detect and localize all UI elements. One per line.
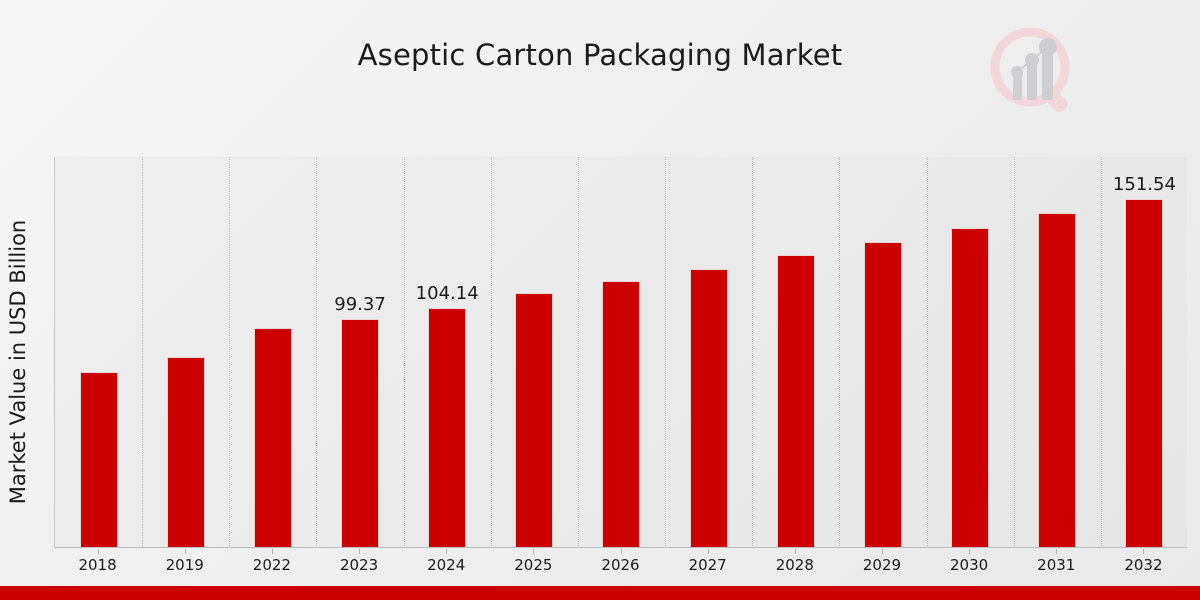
x-axis-tick-label-2026: 2026 (601, 556, 639, 574)
bar-group[interactable] (229, 157, 316, 548)
bar-group[interactable] (839, 157, 926, 548)
x-axis-tick (882, 549, 883, 554)
bar-2023[interactable] (341, 319, 379, 548)
x-axis-tick-label-2022: 2022 (253, 556, 291, 574)
x-axis-tick-label-2029: 2029 (863, 556, 901, 574)
bar-value-label: 104.14 (416, 283, 479, 304)
x-axis-tick (359, 549, 360, 554)
bar-value-label: 99.37 (334, 294, 386, 315)
bar-group[interactable]: 99.37 (316, 157, 403, 548)
x-axis-tick (621, 549, 622, 554)
x-axis-tick (533, 549, 534, 554)
bar-group[interactable]: 104.14 (404, 157, 491, 548)
bar-2030[interactable] (951, 228, 989, 548)
bar-group[interactable]: 151.54 (1101, 157, 1188, 548)
plot-area: 99.37104.14151.54 (54, 157, 1187, 548)
bar-value-label: 151.54 (1113, 174, 1176, 195)
x-axis-tick-label-2027: 2027 (689, 556, 727, 574)
x-axis-baseline (55, 547, 1187, 548)
x-axis-tick-label-2028: 2028 (776, 556, 814, 574)
x-axis-tick (446, 549, 447, 554)
bar-group[interactable] (142, 157, 229, 548)
x-axis-tick-label-2023: 2023 (340, 556, 378, 574)
footer-accent-bar (0, 586, 1200, 600)
x-axis-tick (1143, 549, 1144, 554)
x-axis-tick-label-2031: 2031 (1037, 556, 1075, 574)
bar-2032[interactable] (1125, 199, 1163, 548)
x-axis-tick-label-2025: 2025 (514, 556, 552, 574)
bar-group[interactable] (578, 157, 665, 548)
bar-group[interactable] (491, 157, 578, 548)
bar-2026[interactable] (602, 281, 640, 548)
bar-group[interactable] (752, 157, 839, 548)
x-axis-tick-label-2032: 2032 (1124, 556, 1162, 574)
bar-group[interactable] (1014, 157, 1101, 548)
bar-chart-icon (1011, 38, 1057, 100)
y-axis-label: Market Value in USD Billion (6, 152, 30, 572)
x-axis-tick (1056, 549, 1057, 554)
watermark-logo (983, 22, 1087, 126)
x-axis-tick (969, 549, 970, 554)
x-axis: 2018201920222023202420252026202720282029… (54, 549, 1187, 579)
bar-group[interactable] (927, 157, 1014, 548)
bar-group[interactable] (665, 157, 752, 548)
x-axis-tick-label-2024: 2024 (427, 556, 465, 574)
bar-series: 99.37104.14151.54 (55, 157, 1187, 548)
bar-2019[interactable] (167, 357, 205, 548)
x-axis-tick (272, 549, 273, 554)
bar-2028[interactable] (777, 255, 815, 548)
x-axis-tick (708, 549, 709, 554)
bar-2027[interactable] (690, 269, 728, 548)
x-axis-tick (98, 549, 99, 554)
x-axis-tick-label-2030: 2030 (950, 556, 988, 574)
bar-2024[interactable] (428, 308, 466, 548)
bar-group[interactable] (55, 157, 142, 548)
x-axis-tick (795, 549, 796, 554)
bar-2018[interactable] (80, 372, 118, 548)
bar-2031[interactable] (1038, 213, 1076, 548)
x-axis-tick-label-2018: 2018 (78, 556, 116, 574)
x-axis-tick (185, 549, 186, 554)
chart-figure: Aseptic Carton Packaging Market Market V… (0, 0, 1200, 600)
x-axis-tick-label-2019: 2019 (166, 556, 204, 574)
bar-2029[interactable] (864, 242, 902, 548)
bar-2022[interactable] (254, 328, 292, 548)
bar-2025[interactable] (515, 293, 553, 548)
